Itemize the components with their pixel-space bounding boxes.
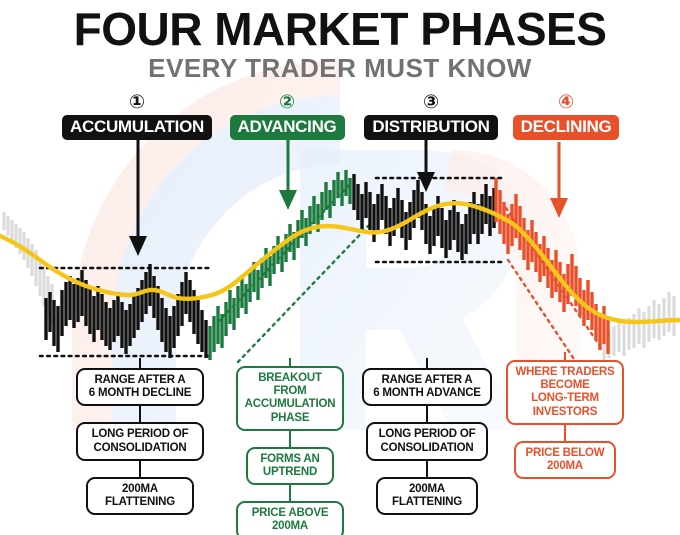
notes-column-distribution: RANGE AFTER A 6 MONTH ADVANCE LONG PERIO…: [362, 358, 492, 515]
connector: [289, 431, 291, 447]
phase-header-declining: ④ DECLINING: [502, 92, 630, 140]
page-subtitle: EVERY TRADER MUST KNOW: [0, 54, 680, 82]
page-title: FOUR MARKET PHASES: [0, 4, 680, 54]
arrow-down-declining: [543, 142, 575, 218]
notes-column-advancing: BREAKOUT FROM ACCUMULATION PHASE FORMS A…: [236, 358, 344, 535]
note-accumulation-2: LONG PERIOD OF CONSOLIDATION: [76, 422, 204, 460]
connector: [139, 406, 141, 422]
phase-number-4: ④: [502, 92, 630, 113]
arrow-down-distribution: [410, 140, 442, 192]
arrow-down-advancing: [272, 140, 304, 210]
connector: [289, 358, 291, 366]
connector: [564, 352, 566, 360]
connector: [139, 461, 141, 477]
note-declining-1: WHERE TRADERS BECOME LONG-TERM INVESTORS: [506, 360, 624, 425]
connector: [564, 425, 566, 441]
notes-column-declining: WHERE TRADERS BECOME LONG-TERM INVESTORS…: [506, 352, 624, 479]
phase-number-2: ②: [222, 92, 352, 113]
note-accumulation-3: 200MA FLATTENING: [86, 477, 194, 515]
note-advancing-3: PRICE ABOVE 200MA: [236, 501, 344, 535]
phase-header-distribution: ③ DISTRIBUTION: [356, 92, 506, 140]
note-distribution-3: 200MA FLATTENING: [376, 477, 478, 515]
note-accumulation-1: RANGE AFTER A 6 MONTH DECLINE: [76, 368, 204, 406]
connector: [426, 461, 428, 477]
phase-chip-accumulation[interactable]: ACCUMULATION: [62, 115, 212, 140]
note-advancing-1: BREAKOUT FROM ACCUMULATION PHASE: [236, 366, 344, 431]
note-distribution-2: LONG PERIOD OF CONSOLIDATION: [366, 422, 488, 460]
connector: [426, 358, 428, 368]
notes-column-accumulation: RANGE AFTER A 6 MONTH DECLINE LONG PERIO…: [76, 358, 204, 515]
phase-chip-advancing[interactable]: ADVANCING: [230, 115, 345, 140]
connector: [289, 485, 291, 501]
phase-chip-declining[interactable]: DECLINING: [513, 115, 620, 140]
note-advancing-2: FORMS AN UPTREND: [246, 447, 334, 485]
note-distribution-1: RANGE AFTER A 6 MONTH ADVANCE: [362, 368, 492, 406]
note-declining-2: PRICE BELOW 200MA: [514, 441, 616, 479]
phase-chip-distribution[interactable]: DISTRIBUTION: [364, 115, 497, 140]
connector: [139, 358, 141, 368]
phase-number-1: ①: [57, 92, 217, 113]
connector: [426, 406, 428, 422]
phase-header-advancing: ② ADVANCING: [222, 92, 352, 140]
phase-number-3: ③: [356, 92, 506, 113]
infographic-root: FOUR MARKET PHASES EVERY TRADER MUST KNO…: [0, 0, 680, 535]
phase-header-accumulation: ① ACCUMULATION: [57, 92, 217, 140]
arrow-down-accumulation: [122, 140, 154, 256]
price-chart: [0, 150, 680, 370]
